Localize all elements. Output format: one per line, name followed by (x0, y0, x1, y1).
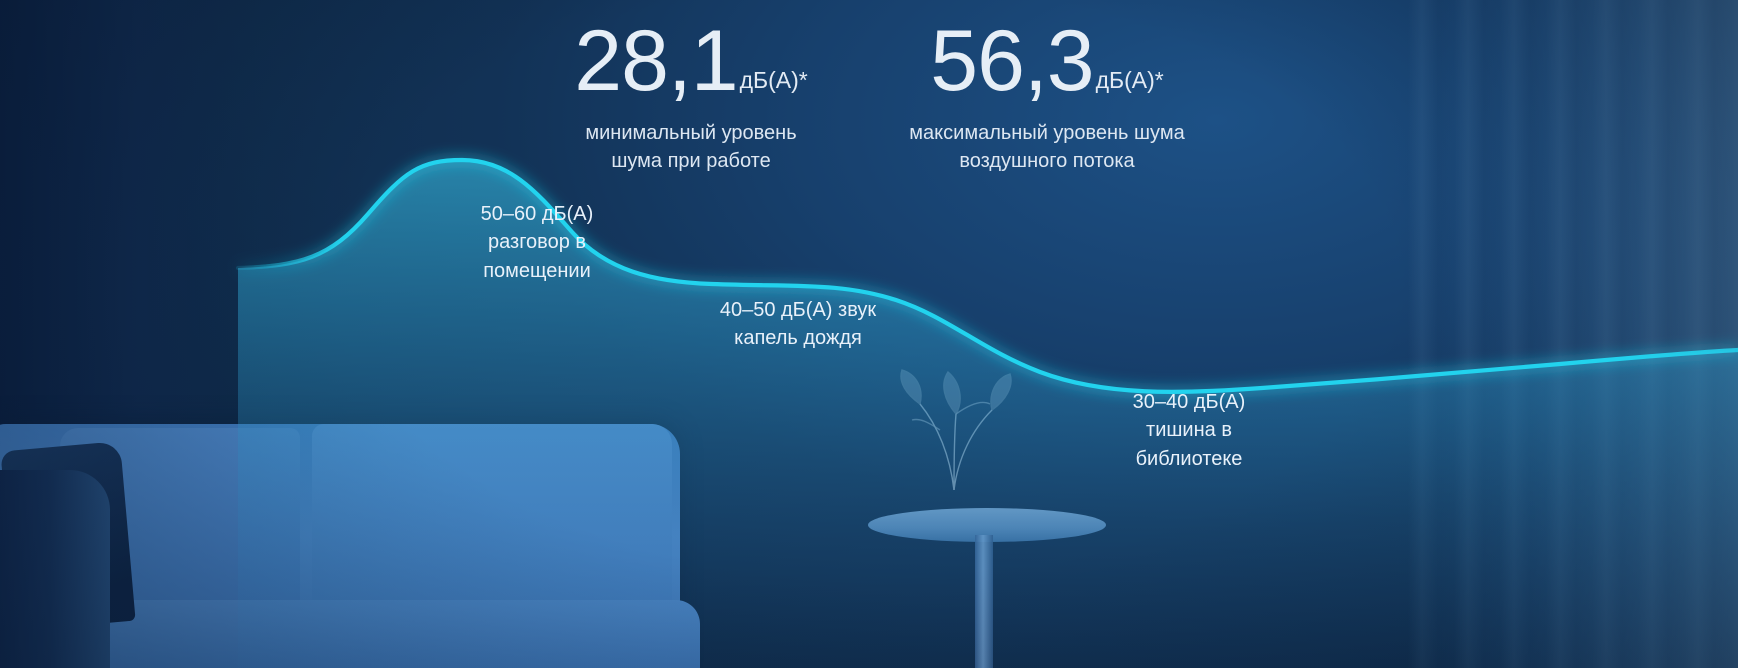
noise-curve-area (238, 160, 1738, 668)
noise-level-infographic: 28,1 дБ(А)* минимальный уровень шума при… (0, 0, 1738, 668)
noise-curve-chart (0, 0, 1738, 668)
